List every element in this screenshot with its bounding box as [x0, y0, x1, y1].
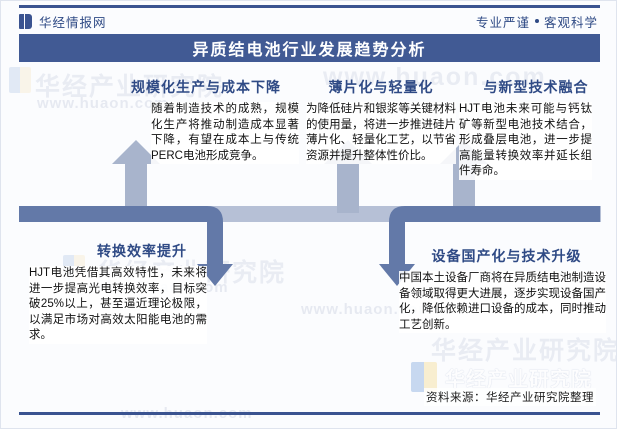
slogan-right: 客观科学	[544, 12, 598, 31]
brand: 华经情报网	[19, 12, 107, 31]
card-scale-body: 随着制造技术的成熟，规模化生产将推动制造成本显著下降，有望在成本上与传统PERC…	[151, 102, 299, 164]
card-fusion: 与新型技术融合 HJT电池未来可能与钙钛矿等新型电池技术结合，形成叠层电池，进一…	[456, 77, 616, 180]
card-efficiency-heading: 转换效率提升	[59, 241, 225, 261]
page-header: 华经情报网 专业严谨 客观科学	[1, 8, 617, 34]
card-fusion-body: HJT电池未来可能与钙钛矿等新型电池技术结合，形成叠层电池，进一步提高能量转换效…	[459, 102, 592, 180]
infographic-page: 华经产业研究院 www.huaon.com www.huaon.com www.…	[0, 0, 617, 429]
source-note: 资料来源：华经产业研究院整理	[424, 388, 596, 406]
bullet-dot-icon	[535, 19, 539, 23]
slogan-left: 专业严谨	[476, 12, 530, 31]
card-fusion-heading: 与新型技术融合	[456, 77, 616, 97]
card-thin-body: 为降低硅片和银浆等关键材料的使用量，将进一步推进硅片薄片化、轻量化工艺，以节省资…	[306, 102, 456, 164]
card-equipment-heading: 设备国产化与技术升级	[399, 246, 614, 266]
card-equipment-body: 中国本土设备厂商将在异质结电池制造设备领域取得更大进展，逐步实现设备国产化，降低…	[399, 271, 606, 333]
card-scale: 规模化生产与成本下降 随着制造技术的成熟，规模化生产将推动制造成本显著下降，有望…	[113, 77, 299, 164]
bottom-divider	[19, 412, 600, 415]
book-icon	[19, 14, 32, 29]
header-slogan: 专业严谨 客观科学	[476, 12, 598, 31]
card-thin-heading: 薄片化与轻量化	[306, 77, 456, 97]
page-title: 异质结电池行业发展趋势分析	[192, 36, 426, 60]
flow-arrows	[1, 1, 617, 429]
card-efficiency-body: HJT电池凭借其高效特性，未来将进一步提高光电转换效率，目标突破25%以上，甚至…	[29, 266, 207, 344]
page-title-bar: 异质结电池行业发展趋势分析	[19, 34, 600, 62]
card-scale-heading: 规模化生产与成本下降	[113, 77, 299, 97]
card-efficiency: 转换效率提升 HJT电池凭借其高效特性，未来将进一步提高光电转换效率，目标突破2…	[29, 241, 225, 344]
card-equipment: 设备国产化与技术升级 中国本土设备厂商将在异质结电池制造设备领域取得更大进展，逐…	[399, 246, 614, 333]
card-thin: 薄片化与轻量化 为降低硅片和银浆等关键材料的使用量，将进一步推进硅片薄片化、轻量…	[306, 77, 456, 164]
brand-name: 华经情报网	[39, 12, 107, 31]
